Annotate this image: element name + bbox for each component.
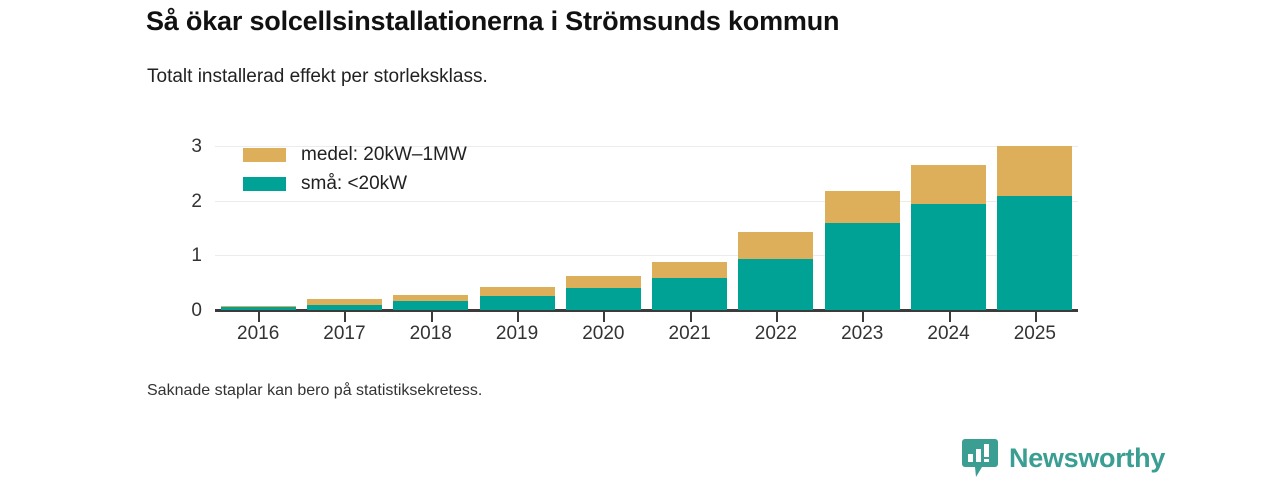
bar-segment-small[interactable] xyxy=(911,204,986,310)
legend-swatch xyxy=(243,148,286,162)
x-tick-mark xyxy=(517,312,519,322)
bar-segment-medium[interactable] xyxy=(997,146,1072,196)
newsworthy-wordmark: Newsworthy xyxy=(1009,443,1165,474)
x-tick-mark xyxy=(431,312,433,322)
x-tick-label: 2025 xyxy=(990,324,1080,343)
y-tick-label: 0 xyxy=(166,301,202,320)
x-tick-label: 2018 xyxy=(386,324,476,343)
bar-segment-small[interactable] xyxy=(566,288,641,310)
legend-label: medel: 20kW–1MW xyxy=(301,144,467,166)
x-tick-mark xyxy=(258,312,260,322)
x-tick-mark xyxy=(690,312,692,322)
bar-segment-medium[interactable] xyxy=(221,306,296,307)
bar-segment-medium[interactable] xyxy=(911,165,986,205)
y-tick-label: 2 xyxy=(166,192,202,211)
legend-item[interactable]: medel: 20kW–1MW xyxy=(243,140,467,169)
bar-segment-small[interactable] xyxy=(480,296,555,310)
x-tick-mark xyxy=(776,312,778,322)
bar-segment-small[interactable] xyxy=(738,259,813,310)
x-tick-label: 2017 xyxy=(299,324,389,343)
newsworthy-bubble-chart-icon xyxy=(962,438,998,478)
x-tick-label: 2023 xyxy=(817,324,907,343)
x-tick-mark xyxy=(949,312,951,322)
bar-segment-medium[interactable] xyxy=(307,299,382,305)
bar-segment-small[interactable] xyxy=(307,305,382,310)
x-tick-mark xyxy=(862,312,864,322)
bar-segment-small[interactable] xyxy=(393,301,468,310)
bar-segment-medium[interactable] xyxy=(480,287,555,296)
chart-footnote: Saknade staplar kan bero på statistiksek… xyxy=(147,382,482,400)
x-tick-label: 2022 xyxy=(731,324,821,343)
stacked-bar-chart: 0123 20162017201820192020202120222023202… xyxy=(0,0,1280,480)
bar-segment-small[interactable] xyxy=(652,278,727,310)
bar-segment-medium[interactable] xyxy=(393,295,468,300)
bar-segment-small[interactable] xyxy=(997,196,1072,310)
x-tick-label: 2021 xyxy=(645,324,735,343)
x-tick-label: 2019 xyxy=(472,324,562,343)
bar-segment-small[interactable] xyxy=(221,307,296,310)
x-tick-label: 2024 xyxy=(904,324,994,343)
bar-segment-small[interactable] xyxy=(825,223,900,310)
bar-segment-medium[interactable] xyxy=(652,262,727,278)
y-tick-label: 3 xyxy=(166,137,202,156)
bar-segment-medium[interactable] xyxy=(825,191,900,222)
x-tick-mark xyxy=(1035,312,1037,322)
legend-swatch xyxy=(243,177,286,191)
x-tick-mark xyxy=(603,312,605,322)
legend-item[interactable]: små: <20kW xyxy=(243,169,467,198)
y-tick-label: 1 xyxy=(166,246,202,265)
bar-segment-medium[interactable] xyxy=(738,232,813,259)
newsworthy-logo: Newsworthy xyxy=(962,438,1165,478)
x-tick-mark xyxy=(344,312,346,322)
legend-label: små: <20kW xyxy=(301,173,407,195)
chart-legend: medel: 20kW–1MWsmå: <20kW xyxy=(243,140,467,198)
bar-segment-medium[interactable] xyxy=(566,276,641,289)
x-tick-label: 2020 xyxy=(558,324,648,343)
x-tick-label: 2016 xyxy=(213,324,303,343)
